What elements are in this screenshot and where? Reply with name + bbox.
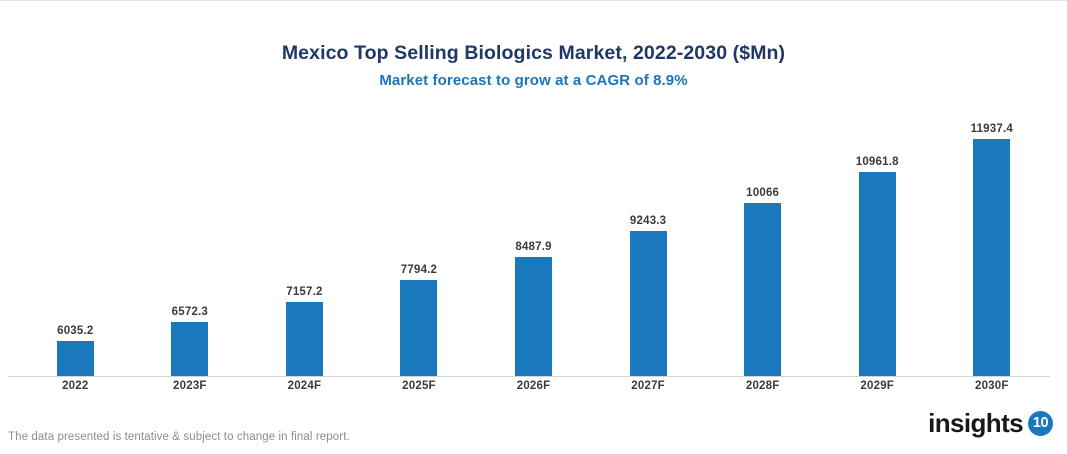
logo-wordmark: insights — [928, 410, 1023, 436]
footnote: The data presented is tentative & subjec… — [8, 431, 350, 443]
bar-2024F[interactable] — [286, 302, 323, 376]
bar-2023F[interactable] — [171, 322, 208, 376]
chart-subtitle: Market forecast to grow at a CAGR of 8.9… — [0, 72, 1067, 89]
bar-value-label: 10961.8 — [856, 156, 899, 168]
bar-group: 10961.8 — [820, 105, 935, 376]
bar-2029F[interactable] — [859, 172, 896, 376]
bar-group: 7794.2 — [362, 105, 477, 376]
bar-value-label: 6572.3 — [172, 306, 208, 318]
bar-value-label: 9243.3 — [630, 215, 666, 227]
bar-2028F[interactable] — [744, 203, 781, 376]
x-tick-2022: 2022 — [18, 380, 133, 392]
x-tick-2023F: 2023F — [133, 380, 248, 392]
bar-2022[interactable] — [57, 341, 94, 376]
bar-group: 9243.3 — [591, 105, 706, 376]
x-tick-2028F: 2028F — [705, 380, 820, 392]
x-axis-line — [8, 376, 1050, 377]
x-axis-tick-labels: 20222023F2024F2025F2026F2027F2028F2029F2… — [18, 380, 1049, 392]
chart-page: Mexico Top Selling Biologics Market, 202… — [0, 0, 1067, 454]
logo-badge-icon: 10 — [1028, 411, 1053, 436]
x-tick-2026F: 2026F — [476, 380, 591, 392]
bar-2026F[interactable] — [515, 257, 552, 376]
bar-series: 6035.26572.37157.27794.28487.99243.31006… — [18, 105, 1049, 376]
bar-2030F[interactable] — [973, 139, 1010, 376]
title-block: Mexico Top Selling Biologics Market, 202… — [0, 41, 1067, 89]
bar-group: 7157.2 — [247, 105, 362, 376]
x-tick-2029F: 2029F — [820, 380, 935, 392]
x-tick-2024F: 2024F — [247, 380, 362, 392]
bar-2027F[interactable] — [630, 231, 667, 376]
x-tick-2027F: 2027F — [591, 380, 706, 392]
bar-value-label: 7157.2 — [286, 286, 322, 298]
bar-2025F[interactable] — [400, 280, 437, 376]
bar-value-label: 8487.9 — [515, 241, 551, 253]
plot-area: 6035.26572.37157.27794.28487.99243.31006… — [0, 105, 1067, 377]
bar-value-label: 7794.2 — [401, 264, 437, 276]
x-tick-2025F: 2025F — [362, 380, 477, 392]
page-title: Mexico Top Selling Biologics Market, 202… — [0, 41, 1067, 65]
bar-value-label: 11937.4 — [971, 123, 1013, 135]
bar-group: 6035.2 — [18, 105, 133, 376]
bar-value-label: 6035.2 — [57, 325, 93, 337]
insights10-logo: insights 10 — [928, 410, 1053, 436]
bar-value-label: 10066 — [746, 187, 779, 199]
x-tick-2030F: 2030F — [935, 380, 1050, 392]
bar-group: 6572.3 — [133, 105, 248, 376]
bar-group: 11937.4 — [935, 105, 1050, 376]
bar-group: 10066 — [705, 105, 820, 376]
bar-group: 8487.9 — [476, 105, 591, 376]
